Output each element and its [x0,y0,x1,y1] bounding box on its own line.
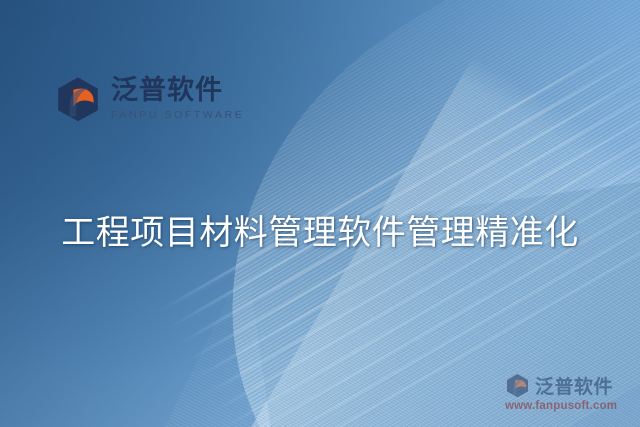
watermark-url: www.fanpusoft.com [505,400,635,412]
company-logo-wordmark: 泛普软件 FANPU SOFTWARE [111,77,244,121]
banner-headline: 工程项目材料管理软件管理精准化 [0,205,640,254]
watermark-logo-row: 泛普软件 [505,372,635,399]
fanpu-hexagon-logo-icon [55,76,101,122]
site-watermark: 泛普软件 www.fanpusoft.com [505,372,635,412]
company-logo: 泛普软件 FANPU SOFTWARE [55,76,244,122]
watermark-name-cn: 泛普软件 [535,372,613,399]
fanpu-hexagon-logo-icon [505,373,530,398]
company-name-cn: 泛普软件 [111,77,244,104]
promo-banner: 泛普软件 FANPU SOFTWARE 工程项目材料管理软件管理精准化 泛普软件… [0,0,640,427]
company-name-en: FANPU SOFTWARE [111,110,244,121]
